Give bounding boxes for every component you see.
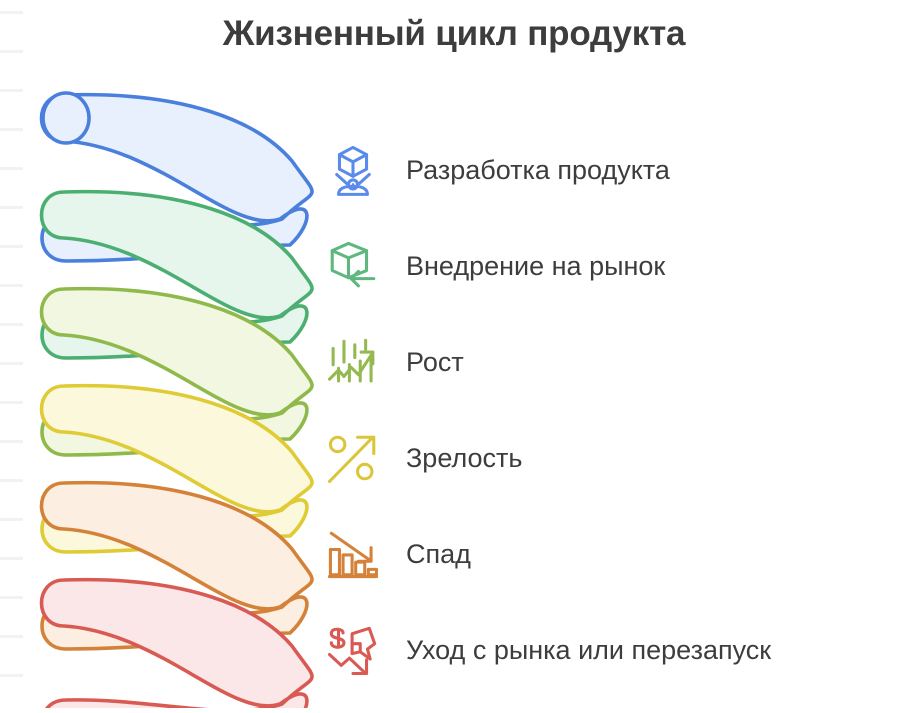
legend-label: Зрелость	[406, 445, 522, 472]
legend-item-development[interactable]: Разработка продукта	[322, 122, 902, 218]
declining-bars-icon	[322, 523, 384, 585]
legend-item-growth[interactable]: Рост	[322, 314, 902, 410]
legend-list: Разработка продукта Внедрение на рынок	[322, 122, 902, 698]
market-exit-relaunch-icon	[322, 619, 384, 681]
legend-label: Внедрение на рынок	[406, 253, 665, 280]
legend-item-decline[interactable]: Спад	[322, 506, 902, 602]
legend-label: Рост	[406, 349, 464, 376]
gridline	[0, 128, 23, 131]
gridline	[0, 635, 23, 638]
legend-item-market-entry[interactable]: Внедрение на рынок	[322, 218, 902, 314]
gridline	[0, 596, 23, 599]
gridline	[0, 401, 23, 404]
gridline	[0, 89, 23, 92]
growth-chart-icon	[322, 331, 384, 393]
gridline	[0, 206, 23, 209]
gridline	[0, 245, 23, 248]
gridline	[0, 479, 23, 482]
product-development-icon	[322, 139, 384, 201]
legend-item-maturity[interactable]: Зрелость	[322, 410, 902, 506]
gridline	[0, 362, 23, 365]
page-title: Жизненный цикл продукта	[0, 14, 908, 54]
gridline	[0, 518, 23, 521]
percent-arrow-icon	[322, 427, 384, 489]
gridline	[0, 674, 23, 677]
product-lifecycle-spiral	[30, 82, 320, 708]
spiral-svg	[30, 82, 320, 708]
gridline	[0, 323, 23, 326]
gridline	[0, 557, 23, 560]
legend-label: Разработка продукта	[406, 157, 670, 184]
legend-item-exit-relaunch[interactable]: Уход с рынка или перезапуск	[322, 602, 902, 698]
spiral-start-cap	[43, 93, 89, 143]
gridline	[0, 284, 23, 287]
gridline	[0, 167, 23, 170]
market-entry-cube-icon	[322, 235, 384, 297]
gridline	[0, 440, 23, 443]
legend-label: Спад	[406, 541, 471, 568]
legend-label: Уход с рынка или перезапуск	[406, 637, 771, 664]
